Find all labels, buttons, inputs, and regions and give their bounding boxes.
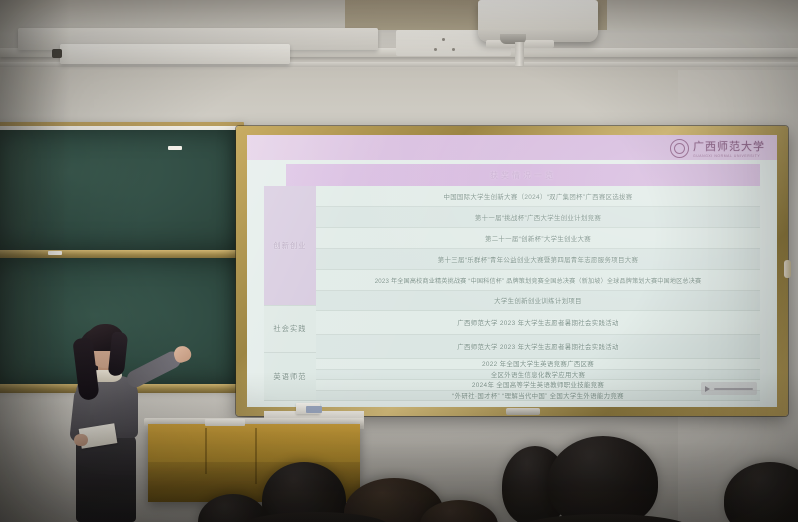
presenter [58,322,193,522]
presenter-hand-holding [74,434,88,446]
table-row: 大学生创新创业训练计划项目 [316,291,760,311]
table-row: 2022 年全国大学生英语竞赛广西区赛 [316,359,760,370]
category-cell-social-practice: 社会实践 [264,306,316,353]
table-row: 第十一届“挑战杯”广西大学生创业计划竞赛 [316,207,760,228]
display-screen[interactable]: 广西师范大学 GUANGXI NORMAL UNIVERSITY 获奖情况一览 … [247,135,777,407]
table-row: 全区外语生信息化教学应用大赛 [316,370,760,381]
table-row: 第二十一届“创新杯”大学生创业大赛 [316,228,760,249]
table-row: 2024年 全国高等学生英语教师职业技能竞赛 [316,380,760,391]
play-icon[interactable] [705,386,710,392]
classroom-scene: 广西师范大学 GUANGXI NORMAL UNIVERSITY 获奖情况一览 … [0,0,798,522]
slide-body: 获奖情况一览 创新创业 社会实践 英语师范 中国国际大学生创新大赛（2024）“… [264,160,763,401]
presenter-hair-side [108,331,129,376]
table-rows-column: 中国国际大学生创新大赛（2024）“双广集团杯”广西赛区选拔赛 第十一届“挑战杯… [316,186,760,401]
table-row: 2023 年全国高校商业精英挑战赛 “中国科信杯” 品牌策划竞赛全国总决赛（新加… [316,270,760,291]
category-cell-innovation: 创新创业 [264,186,316,306]
table-row: 中国国际大学生创新大赛（2024）“双广集团杯”广西赛区选拔赛 [316,186,760,207]
projector [478,0,598,42]
table-row: 第十三届“乐群杯”青年公益创业大赛暨第四届青年志愿服务项目大赛 [316,249,760,270]
table-row: 广西师范大学 2023 年大学生志愿者暑期社会实践活动 [316,335,760,359]
media-player-controls[interactable] [701,382,757,395]
duct-knob [52,49,62,58]
chalk-piece [48,251,62,255]
slide-title: 获奖情况一览 [490,170,556,181]
logo-text: 广西师范大学 [693,138,765,154]
table-category-column: 创新创业 社会实践 英语师范 [264,186,316,401]
display-bottom-nub [506,408,540,415]
display-side-nub [784,260,791,278]
awards-table: 创新创业 社会实践 英语师范 中国国际大学生创新大赛（2024）“双广集团杯”广… [264,186,760,401]
university-emblem-icon [670,139,689,158]
category-cell-english-education: 英语师范 [264,353,316,401]
desk-item-secondary [306,406,322,413]
ceiling-duct-secondary [60,44,290,64]
chalk-piece [168,146,182,150]
audience-head [548,436,658,522]
progress-bar[interactable] [714,388,753,390]
table-row: 广西师范大学 2023 年大学生志愿者暑期社会实践活动 [316,311,760,335]
projector-arm [515,42,524,66]
logo-subtext: GUANGXI NORMAL UNIVERSITY [693,154,765,158]
podium-plate [205,419,245,426]
university-logo: 广西师范大学 GUANGXI NORMAL UNIVERSITY [670,138,765,158]
presentation-slide: 广西师范大学 GUANGXI NORMAL UNIVERSITY 获奖情况一览 … [247,135,777,407]
slide-header-bar: 广西师范大学 GUANGXI NORMAL UNIVERSITY [247,135,777,160]
chalkboard-upper [0,130,240,250]
slide-title-bar: 获奖情况一览 [286,164,760,186]
table-row: “外研社·国才杯” “理解当代中国” 全国大学生外语能力竞赛 [316,391,760,402]
